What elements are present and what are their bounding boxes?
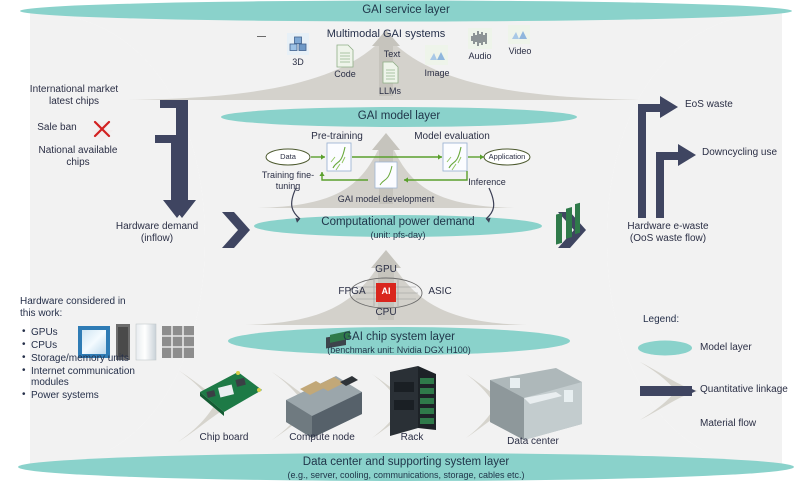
layer-title-model: GAI model layer bbox=[358, 110, 440, 124]
inference-label: Inference bbox=[468, 177, 506, 188]
layer-title-service: GAI service layer bbox=[362, 4, 450, 18]
service-heading: Multimodal GAI systems bbox=[327, 28, 446, 41]
dash-mark bbox=[257, 36, 266, 37]
hardware-list: GPUs CPUs Storage/memory units Internet … bbox=[22, 325, 135, 403]
sale-ban-label: Sale ban bbox=[37, 122, 76, 134]
eos-waste-label: EoS waste bbox=[685, 99, 733, 111]
model-funnel-label: GAI model development bbox=[338, 194, 435, 205]
service-item-label-image: Image bbox=[424, 68, 449, 79]
cubes-icon bbox=[287, 33, 309, 60]
service-item-label-code: Code bbox=[334, 69, 356, 80]
chip-right-label: ASIC bbox=[428, 286, 451, 298]
chain-label-data-center: Data center bbox=[507, 436, 559, 448]
chain-label-compute-node: Compute node bbox=[289, 432, 355, 444]
service-funnel-label: LLMs bbox=[379, 86, 401, 97]
application-node-label: Application bbox=[489, 153, 526, 162]
rack-icon bbox=[390, 366, 436, 436]
legend-label-material-flow: Material flow bbox=[700, 418, 756, 430]
international-market-label: International market latest chips bbox=[30, 84, 118, 108]
downcycling-label: Downcycling use bbox=[702, 147, 777, 159]
national-chips-label: National available chips bbox=[39, 145, 118, 169]
layer-title-power: Computational power demand bbox=[321, 216, 474, 230]
document-text-icon bbox=[381, 61, 400, 89]
data-node-label: Data bbox=[280, 153, 296, 162]
legend-label-model-layer: Model layer bbox=[700, 342, 752, 354]
hardware-ewaste-label: Hardware e-waste (OoS waste flow) bbox=[627, 221, 708, 245]
diagram-canvas: GAI service layer GAI model layer Comput… bbox=[0, 0, 812, 489]
ai-badge-label: AI bbox=[382, 286, 391, 297]
layer-sub-datacenter: (e.g., server, cooling, communications, … bbox=[287, 470, 524, 481]
layer-sub-power: (unit: pfs-day) bbox=[370, 230, 425, 241]
legend-label-quantitative-linkage: Quantitative linkage bbox=[700, 384, 788, 396]
training-fine-tuning-label: Training fine- tuning bbox=[262, 170, 314, 191]
layer-sub-chip: (benchmark unit: Nvidia DGX H100) bbox=[327, 345, 471, 356]
hardware-item: CPUs bbox=[22, 340, 135, 351]
chip-bottom-label: CPU bbox=[375, 307, 396, 319]
hardware-item: Power systems bbox=[22, 390, 135, 401]
layer-title-chip: GAI chip system layer bbox=[343, 331, 455, 345]
chip-top-label: GPU bbox=[375, 264, 397, 276]
service-item-label-video: Video bbox=[509, 46, 532, 57]
chain-label-rack: Rack bbox=[401, 432, 424, 444]
chip-left-label: FPGA bbox=[338, 286, 365, 298]
legend-title: Legend: bbox=[643, 314, 679, 326]
service-item-label-audio: Audio bbox=[468, 51, 491, 62]
hardware-item: GPUs bbox=[22, 327, 135, 338]
hardware-item: Storage/memory units bbox=[22, 353, 135, 364]
service-item-label-3d: 3D bbox=[292, 57, 304, 68]
chain-label-chip-board: Chip board bbox=[200, 432, 249, 444]
hardware-item: Internet communication modules bbox=[22, 366, 135, 388]
layer-title-datacenter: Data center and supporting system layer bbox=[303, 456, 509, 470]
image-icon bbox=[425, 45, 448, 70]
model-evaluation-label: Model evaluation bbox=[414, 131, 490, 143]
pre-training-label: Pre-training bbox=[311, 131, 363, 143]
hardware-demand-label: Hardware demand (inflow) bbox=[116, 221, 198, 245]
hardware-box-title: Hardware considered in this work: bbox=[20, 296, 126, 320]
service-item-label-text: Text bbox=[384, 49, 401, 60]
